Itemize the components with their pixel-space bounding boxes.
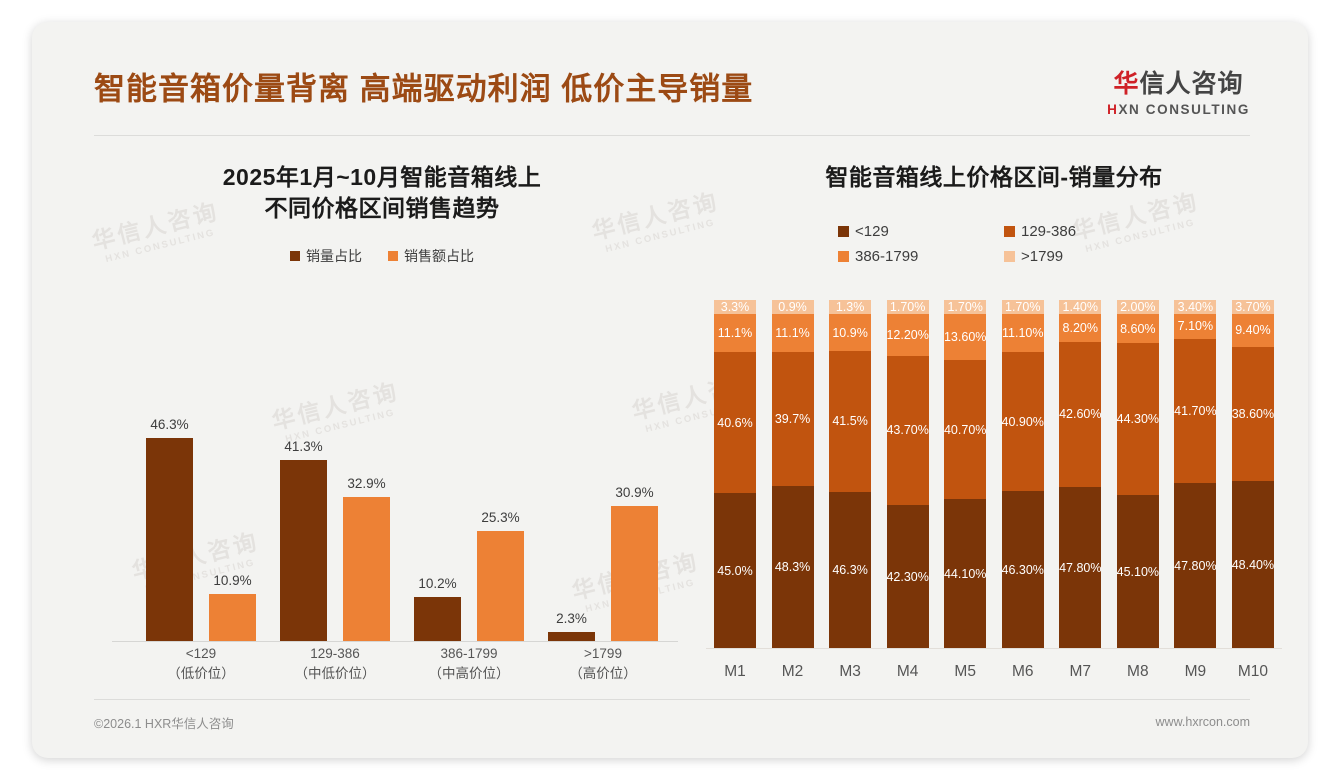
- left-legend-item[interactable]: 销量占比: [290, 246, 362, 266]
- stack-segment-label: 1.70%: [890, 300, 925, 314]
- stack-segment[interactable]: 40.6%: [714, 352, 756, 493]
- right-chart-panel: 智能音箱线上价格区间-销量分布 <129129-386386-1799>1799…: [700, 140, 1288, 695]
- legend-swatch-icon: [388, 251, 398, 261]
- legend-label: 销量占比: [306, 246, 362, 266]
- stack-segment-label: 1.3%: [836, 300, 865, 314]
- bar-value-label: 10.9%: [213, 573, 251, 588]
- stack-segment[interactable]: 40.70%: [944, 360, 986, 499]
- grouped-bars: 46.3%10.9%41.3%32.9%10.2%25.3%2.3%30.9%: [134, 422, 670, 642]
- legend-label: 129-386: [1021, 223, 1076, 240]
- stack-segment-label: 1.70%: [947, 300, 982, 314]
- stack-segment-label: 40.70%: [944, 423, 986, 437]
- right-chart-axis: [706, 648, 1282, 649]
- x-axis-category-sublabel: （高价位）: [543, 664, 663, 684]
- x-axis-month-label: M8: [1117, 653, 1159, 681]
- stack-segment-label: 40.6%: [717, 416, 752, 430]
- legend-swatch-icon: [838, 226, 849, 237]
- stack-segment[interactable]: 3.3%: [714, 300, 756, 314]
- stacked-bar[interactable]: 1.70%13.60%40.70%44.10%: [944, 300, 986, 649]
- bar-value-label: 30.9%: [615, 485, 653, 500]
- stack-segment[interactable]: 11.1%: [714, 314, 756, 352]
- left-chart-plot: 46.3%10.9%41.3%32.9%10.2%25.3%2.3%30.9% …: [72, 422, 692, 694]
- stack-segment-label: 10.9%: [832, 326, 867, 340]
- stack-segment[interactable]: 47.80%: [1059, 487, 1101, 649]
- bar-column[interactable]: 10.9%: [209, 422, 256, 642]
- right-chart-legend: <129129-386386-1799>1799: [838, 223, 1288, 265]
- stack-segment[interactable]: 44.30%: [1117, 343, 1159, 494]
- page-title: 智能音箱价量背离 高端驱动利润 低价主导销量: [94, 64, 753, 109]
- stack-segment[interactable]: 8.60%: [1117, 314, 1159, 343]
- stack-segment[interactable]: 0.9%: [772, 300, 814, 314]
- bar-value-label: 25.3%: [481, 510, 519, 525]
- bar-column[interactable]: 32.9%: [343, 422, 390, 642]
- x-axis-category-range: 386-1799: [409, 644, 529, 664]
- bar[interactable]: [414, 597, 461, 642]
- logo-cn-rest: 信人咨询: [1140, 70, 1244, 98]
- bar-column[interactable]: 46.3%: [146, 422, 193, 642]
- logo-en-rest: XN CONSULTING: [1118, 102, 1250, 117]
- stack-segment-label: 44.30%: [1117, 412, 1159, 426]
- stack-segment[interactable]: 45.0%: [714, 493, 756, 649]
- x-axis-category-range: <129: [141, 644, 261, 664]
- stack-segment-label: 43.70%: [886, 423, 928, 437]
- stack-segment-label: 44.10%: [944, 567, 986, 581]
- legend-label: >1799: [1021, 248, 1063, 265]
- right-legend-item[interactable]: >1799: [1004, 248, 1132, 265]
- x-axis-category: >1799（高价位）: [543, 644, 663, 683]
- stacked-bar[interactable]: 2.00%8.60%44.30%45.10%: [1117, 300, 1159, 649]
- stack-segment[interactable]: 1.3%: [829, 300, 871, 314]
- left-legend-item[interactable]: 销售额占比: [388, 246, 474, 266]
- copyright-text: ©2026.1 HXR华信人咨询: [94, 713, 234, 732]
- stack-segment-label: 9.40%: [1235, 323, 1270, 337]
- stack-segment-label: 42.30%: [886, 570, 928, 584]
- stack-segment-label: 11.1%: [718, 326, 753, 340]
- stack-segment[interactable]: 44.10%: [944, 499, 986, 649]
- x-axis-month-label: M7: [1059, 653, 1101, 681]
- stack-segment[interactable]: 3.40%: [1174, 300, 1216, 314]
- stack-segment-label: 8.60%: [1120, 322, 1155, 336]
- stack-segment-label: 13.60%: [944, 330, 986, 344]
- right-legend-item[interactable]: 129-386: [1004, 223, 1132, 240]
- stacked-bar[interactable]: 1.40%8.20%42.60%47.80%: [1059, 300, 1101, 649]
- left-chart-panel: 2025年1月~10月智能音箱线上 不同价格区间销售趋势 销量占比销售额占比 4…: [72, 140, 692, 695]
- left-chart-title-line2: 不同价格区间销售趋势: [72, 193, 692, 224]
- stack-segment-label: 3.70%: [1235, 300, 1270, 314]
- x-axis-category-sublabel: （中低价位）: [275, 664, 395, 684]
- logo-en-red-char: H: [1107, 102, 1118, 117]
- stack-segment-label: 38.60%: [1232, 407, 1274, 421]
- x-axis-category: 386-1799（中高价位）: [409, 644, 529, 683]
- stack-segment[interactable]: 2.00%: [1117, 300, 1159, 314]
- stack-segment-label: 3.40%: [1178, 300, 1213, 314]
- stack-segment[interactable]: 38.60%: [1232, 347, 1274, 481]
- stack-segment-label: 48.40%: [1232, 558, 1274, 572]
- website-url: www.hxrcon.com: [1156, 715, 1250, 729]
- stack-segment-label: 40.90%: [1002, 415, 1044, 429]
- stack-segment-label: 1.40%: [1063, 300, 1098, 314]
- right-chart-title: 智能音箱线上价格区间-销量分布: [700, 162, 1288, 193]
- stack-segment[interactable]: 39.7%: [772, 352, 814, 486]
- stack-segment-label: 3.3%: [721, 300, 750, 314]
- stack-segment-label: 41.5%: [832, 414, 867, 428]
- stack-segment-label: 46.30%: [1002, 563, 1044, 577]
- stack-segment-label: 47.80%: [1174, 559, 1216, 573]
- stack-segment[interactable]: 1.70%: [1002, 300, 1044, 314]
- bar-value-label: 46.3%: [150, 417, 188, 432]
- left-chart-title: 2025年1月~10月智能音箱线上 不同价格区间销售趋势: [72, 162, 692, 224]
- bar[interactable]: [209, 594, 256, 642]
- stack-segment[interactable]: 41.5%: [829, 351, 871, 492]
- left-chart-legend: 销量占比销售额占比: [72, 246, 692, 266]
- legend-label: 销售额占比: [404, 246, 474, 266]
- legend-swatch-icon: [1004, 251, 1015, 262]
- stack-segment[interactable]: 10.9%: [829, 314, 871, 351]
- stack-segment[interactable]: 46.30%: [1002, 491, 1044, 649]
- stack-segment-label: 39.7%: [775, 412, 810, 426]
- stack-segment-label: 7.10%: [1178, 319, 1213, 333]
- right-chart-plot: 3.3%11.1%40.6%45.0%0.9%11.1%39.7%48.3%1.…: [700, 300, 1288, 695]
- stack-segment[interactable]: 13.60%: [944, 314, 986, 360]
- stacked-bars: 3.3%11.1%40.6%45.0%0.9%11.1%39.7%48.3%1.…: [714, 300, 1274, 649]
- bar-value-label: 10.2%: [418, 576, 456, 591]
- logo-english-text: HXN CONSULTING: [1107, 102, 1250, 117]
- stacked-bar[interactable]: 3.70%9.40%38.60%48.40%: [1232, 300, 1274, 649]
- header-divider: [94, 135, 1250, 136]
- stack-segment-label: 41.70%: [1174, 404, 1216, 418]
- slide: 智能音箱价量背离 高端驱动利润 低价主导销量 华信人咨询 HXN CONSULT…: [32, 22, 1308, 758]
- x-axis-month-label: M2: [772, 653, 814, 681]
- stacked-bar[interactable]: 1.70%11.10%40.90%46.30%: [1002, 300, 1044, 649]
- stack-segment[interactable]: 1.70%: [887, 300, 929, 314]
- bar-value-label: 32.9%: [347, 476, 385, 491]
- legend-swatch-icon: [290, 251, 300, 261]
- bar[interactable]: [343, 497, 390, 642]
- bar-value-label: 41.3%: [284, 439, 322, 454]
- stacked-bar[interactable]: 3.40%7.10%41.70%47.80%: [1174, 300, 1216, 649]
- stacked-bar[interactable]: 1.70%12.20%43.70%42.30%: [887, 300, 929, 649]
- stacked-bar[interactable]: 3.3%11.1%40.6%45.0%: [714, 300, 756, 649]
- left-chart-x-axis-labels: <129（低价位）129-386（中低价位）386-1799（中高价位）>179…: [134, 644, 670, 694]
- stack-segment-label: 45.10%: [1117, 565, 1159, 579]
- logo-chinese-text: 华信人咨询: [1107, 72, 1250, 97]
- stack-segment-label: 46.3%: [832, 563, 867, 577]
- x-axis-month-label: M4: [887, 653, 929, 681]
- bar[interactable]: [280, 460, 327, 642]
- bar[interactable]: [611, 506, 658, 642]
- stack-segment-label: 42.60%: [1059, 407, 1101, 421]
- x-axis-month-label: M9: [1174, 653, 1216, 681]
- slide-header: 智能音箱价量背离 高端驱动利润 低价主导销量 华信人咨询 HXN CONSULT…: [32, 22, 1308, 130]
- x-axis-month-label: M1: [714, 653, 756, 681]
- stack-segment-label: 1.70%: [1005, 300, 1040, 314]
- stack-segment[interactable]: 43.70%: [887, 356, 929, 505]
- stacked-bar[interactable]: 0.9%11.1%39.7%48.3%: [772, 300, 814, 649]
- footer-divider: [94, 699, 1250, 700]
- x-axis-category-range: 129-386: [275, 644, 395, 664]
- x-axis-category-sublabel: （中高价位）: [409, 664, 529, 684]
- stack-segment[interactable]: 7.10%: [1174, 314, 1216, 339]
- stack-segment[interactable]: 40.90%: [1002, 352, 1044, 491]
- stack-segment[interactable]: 45.10%: [1117, 495, 1159, 649]
- x-axis-month-label: M6: [1002, 653, 1044, 681]
- logo-cn-red-char: 华: [1114, 70, 1140, 98]
- bar-value-label: 2.3%: [556, 611, 587, 626]
- x-axis-category-range: >1799: [543, 644, 663, 664]
- stack-segment[interactable]: 12.20%: [887, 314, 929, 356]
- stack-segment[interactable]: 47.80%: [1174, 483, 1216, 649]
- stack-segment[interactable]: 42.60%: [1059, 342, 1101, 487]
- stack-segment[interactable]: 42.30%: [887, 505, 929, 649]
- stack-segment-label: 2.00%: [1120, 300, 1155, 314]
- stack-segment-label: 12.20%: [886, 328, 928, 342]
- x-axis-category: <129（低价位）: [141, 644, 261, 683]
- x-axis-category-sublabel: （低价位）: [141, 664, 261, 684]
- bar-column[interactable]: 30.9%: [611, 422, 658, 642]
- legend-swatch-icon: [1004, 226, 1015, 237]
- x-axis-month-label: M3: [829, 653, 871, 681]
- stack-segment[interactable]: 11.10%: [1002, 314, 1044, 352]
- stack-segment[interactable]: 9.40%: [1232, 314, 1274, 347]
- stack-segment[interactable]: 3.70%: [1232, 300, 1274, 314]
- bar-group: 2.3%30.9%: [548, 422, 658, 642]
- x-axis-category: 129-386（中低价位）: [275, 644, 395, 683]
- x-axis-month-label: M5: [944, 653, 986, 681]
- right-legend-item[interactable]: <129: [838, 223, 966, 240]
- legend-label: <129: [855, 223, 889, 240]
- bar-column[interactable]: 25.3%: [477, 422, 524, 642]
- bar-group: 46.3%10.9%: [146, 422, 256, 642]
- right-chart-x-axis-labels: M1M2M3M4M5M6M7M8M9M10: [714, 653, 1274, 695]
- stack-segment-label: 48.3%: [775, 560, 810, 574]
- stack-segment[interactable]: 48.3%: [772, 486, 814, 649]
- stack-segment[interactable]: 1.70%: [944, 300, 986, 314]
- company-logo: 华信人咨询 HXN CONSULTING: [1107, 72, 1250, 117]
- stack-segment[interactable]: 41.70%: [1174, 339, 1216, 484]
- left-chart-axis: [112, 641, 678, 642]
- slide-footer: ©2026.1 HXR华信人咨询 www.hxrcon.com: [94, 712, 1250, 732]
- stack-segment[interactable]: 8.20%: [1059, 314, 1101, 342]
- bar-group: 41.3%32.9%: [280, 422, 390, 642]
- stack-segment-label: 47.80%: [1059, 561, 1101, 575]
- bar[interactable]: [477, 531, 524, 642]
- stack-segment-label: 45.0%: [717, 564, 752, 578]
- stack-segment[interactable]: 48.40%: [1232, 481, 1274, 649]
- stacked-bar[interactable]: 1.3%10.9%41.5%46.3%: [829, 300, 871, 649]
- stack-segment-label: 0.9%: [778, 300, 807, 314]
- bar[interactable]: [146, 438, 193, 642]
- left-chart-title-line1: 2025年1月~10月智能音箱线上: [72, 162, 692, 193]
- bar-group: 10.2%25.3%: [414, 422, 524, 642]
- bar-column[interactable]: 2.3%: [548, 422, 595, 642]
- right-legend-item[interactable]: 386-1799: [838, 248, 966, 265]
- stack-segment-label: 11.10%: [1002, 326, 1043, 340]
- x-axis-month-label: M10: [1232, 653, 1274, 681]
- legend-label: 386-1799: [855, 248, 918, 265]
- stack-segment-label: 11.1%: [775, 326, 810, 340]
- stack-segment-label: 8.20%: [1063, 321, 1098, 335]
- stack-segment[interactable]: 1.40%: [1059, 300, 1101, 314]
- bar-column[interactable]: 41.3%: [280, 422, 327, 642]
- stack-segment[interactable]: 11.1%: [772, 314, 814, 352]
- stack-segment[interactable]: 46.3%: [829, 492, 871, 649]
- legend-swatch-icon: [838, 251, 849, 262]
- bar-column[interactable]: 10.2%: [414, 422, 461, 642]
